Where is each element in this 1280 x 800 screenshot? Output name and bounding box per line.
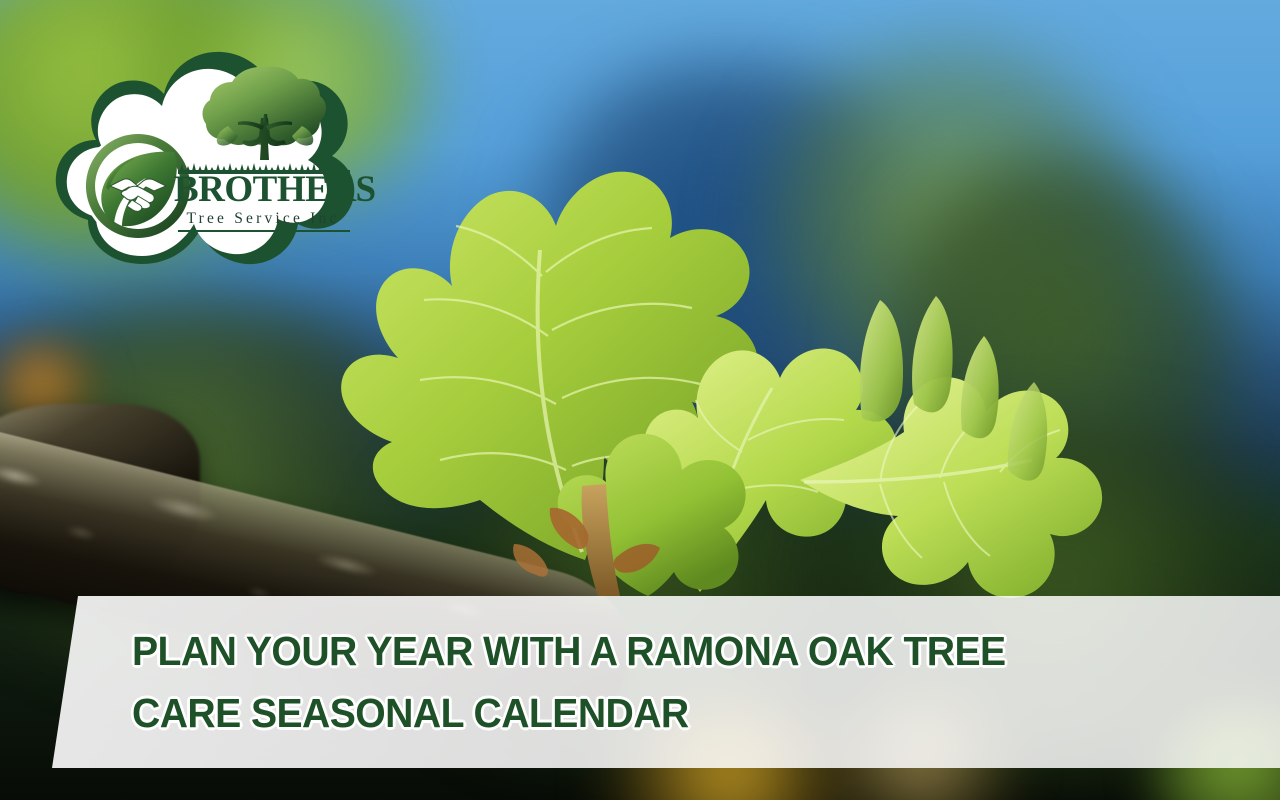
brand-name: BROTHERS	[174, 170, 352, 210]
page-title-line-2: CARE SEASONAL CALENDAR	[132, 682, 1144, 744]
brand-tagline: Tree Service Inc	[174, 210, 352, 228]
brand-wordmark: BROTHERS Tree Service Inc	[174, 64, 352, 234]
hero-banner: BROTHERS Tree Service Inc PLAN YOUR YEAR…	[0, 0, 1280, 800]
brand-logo-badge[interactable]: BROTHERS Tree Service Inc	[44, 18, 364, 276]
oak-tree-icon	[198, 64, 332, 164]
page-title-line-1: PLAN YOUR YEAR WITH A RAMONA OAK TREE	[132, 620, 1144, 682]
logo-content: BROTHERS Tree Service Inc	[44, 18, 364, 276]
brand-underline	[178, 230, 350, 232]
page-title: PLAN YOUR YEAR WITH A RAMONA OAK TREE CA…	[132, 620, 1144, 744]
